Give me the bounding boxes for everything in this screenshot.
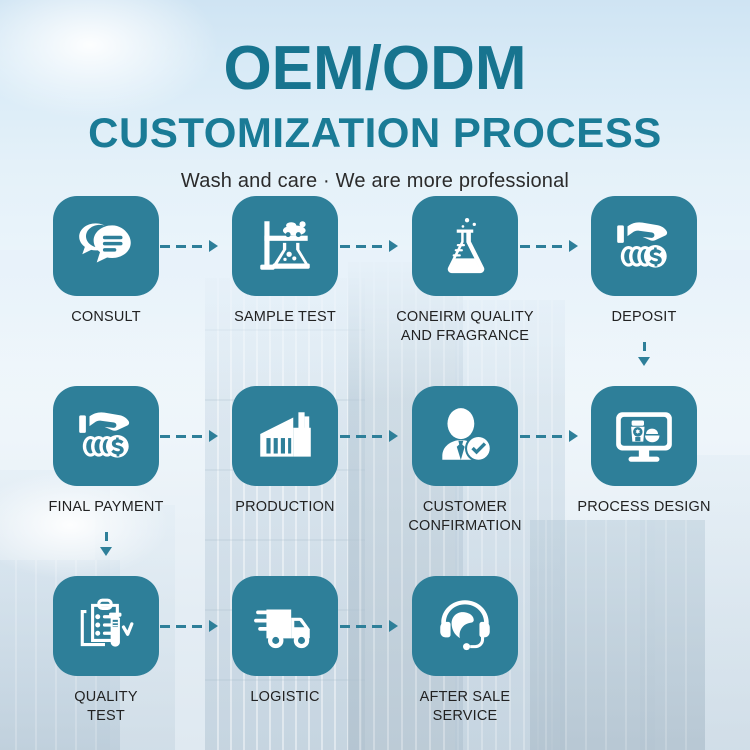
dash	[176, 245, 186, 248]
erlenmeyer-flask-icon	[432, 213, 498, 279]
step-sample-test[interactable]: SAMPLE TEST	[195, 196, 375, 327]
page-subtitle: CUSTOMIZATION PROCESS	[0, 100, 750, 154]
logistic-tile[interactable]	[232, 576, 338, 676]
step-label: CONSULT	[16, 308, 196, 327]
dash	[105, 532, 108, 541]
arrow-head	[100, 547, 112, 556]
step-label: CONEIRM QUALITYAND FRAGRANCE	[375, 308, 555, 345]
quality-test-tile[interactable]	[53, 576, 159, 676]
final-payment-tile[interactable]	[53, 386, 159, 486]
dash	[160, 625, 170, 628]
dash	[536, 245, 546, 248]
dash	[160, 245, 170, 248]
tagline: Wash and care · We are more professional	[0, 154, 750, 193]
poster-header: OEM/ODM CUSTOMIZATION PROCESS Wash and c…	[0, 0, 750, 193]
chat-bubbles-icon	[73, 213, 139, 279]
infographic-poster: OEM/ODM CUSTOMIZATION PROCESS Wash and c…	[0, 0, 750, 750]
dash	[176, 435, 186, 438]
dash	[643, 342, 646, 351]
process-row-1: CONSULT	[0, 196, 750, 376]
hand-coins-icon	[73, 403, 139, 469]
dash	[160, 435, 170, 438]
person-check-icon	[432, 403, 498, 469]
page-title: OEM/ODM	[0, 0, 750, 100]
step-after-sale-service[interactable]: AFTER SALESERVICE	[375, 576, 555, 725]
sample-test-tile[interactable]	[232, 196, 338, 296]
lab-stand-flask-icon	[252, 213, 318, 279]
step-label: QUALITYTEST	[16, 688, 196, 725]
step-quality-test[interactable]: QUALITYTEST	[16, 576, 196, 725]
process-steps-grid: CONSULT	[0, 196, 750, 750]
dash	[340, 625, 350, 628]
step-confirm-quality[interactable]: CONEIRM QUALITYAND FRAGRANCE	[375, 196, 555, 345]
dash	[356, 245, 366, 248]
hand-coins-icon	[611, 213, 677, 279]
dash	[340, 435, 350, 438]
monitor-product-icon	[611, 403, 677, 469]
delivery-truck-icon	[252, 593, 318, 659]
step-label: DEPOSIT	[554, 308, 734, 327]
step-label: AFTER SALESERVICE	[375, 688, 555, 725]
deposit-tile[interactable]	[591, 196, 697, 296]
confirm-quality-tile[interactable]	[412, 196, 518, 296]
factory-icon	[252, 403, 318, 469]
step-logistic[interactable]: LOGISTIC	[195, 576, 375, 707]
dash	[340, 245, 350, 248]
step-label: LOGISTIC	[195, 688, 375, 707]
dash	[176, 625, 186, 628]
step-label: CUSTOMERCONFIRMATION	[375, 498, 555, 535]
process-row-3: QUALITYTEST	[0, 576, 750, 750]
after-sale-service-tile[interactable]	[412, 576, 518, 676]
process-row-2: FINAL PAYMENT	[0, 386, 750, 566]
step-consult[interactable]: CONSULT	[16, 196, 196, 327]
step-process-design[interactable]: PROCESS DESIGN	[554, 386, 734, 517]
headset-support-icon	[432, 593, 498, 659]
customer-confirmation-tile[interactable]	[412, 386, 518, 486]
step-final-payment[interactable]: FINAL PAYMENT	[16, 386, 196, 517]
step-customer-confirmation[interactable]: CUSTOMERCONFIRMATION	[375, 386, 555, 535]
arrow-head	[638, 357, 650, 366]
step-deposit[interactable]: DEPOSIT	[554, 196, 734, 327]
process-design-tile[interactable]	[591, 386, 697, 486]
step-label: SAMPLE TEST	[195, 308, 375, 327]
arrow-deposit-to-processdesign	[638, 342, 650, 366]
step-label: PRODUCTION	[195, 498, 375, 517]
dash	[536, 435, 546, 438]
dash	[520, 245, 530, 248]
dash	[356, 625, 366, 628]
arrow-finalpayment-to-quality	[100, 532, 112, 556]
step-label: FINAL PAYMENT	[16, 498, 196, 517]
dash	[356, 435, 366, 438]
consult-tile[interactable]	[53, 196, 159, 296]
production-tile[interactable]	[232, 386, 338, 486]
dash	[520, 435, 530, 438]
step-production[interactable]: PRODUCTION	[195, 386, 375, 517]
step-label: PROCESS DESIGN	[554, 498, 734, 517]
clipboard-testtube-icon	[73, 593, 139, 659]
